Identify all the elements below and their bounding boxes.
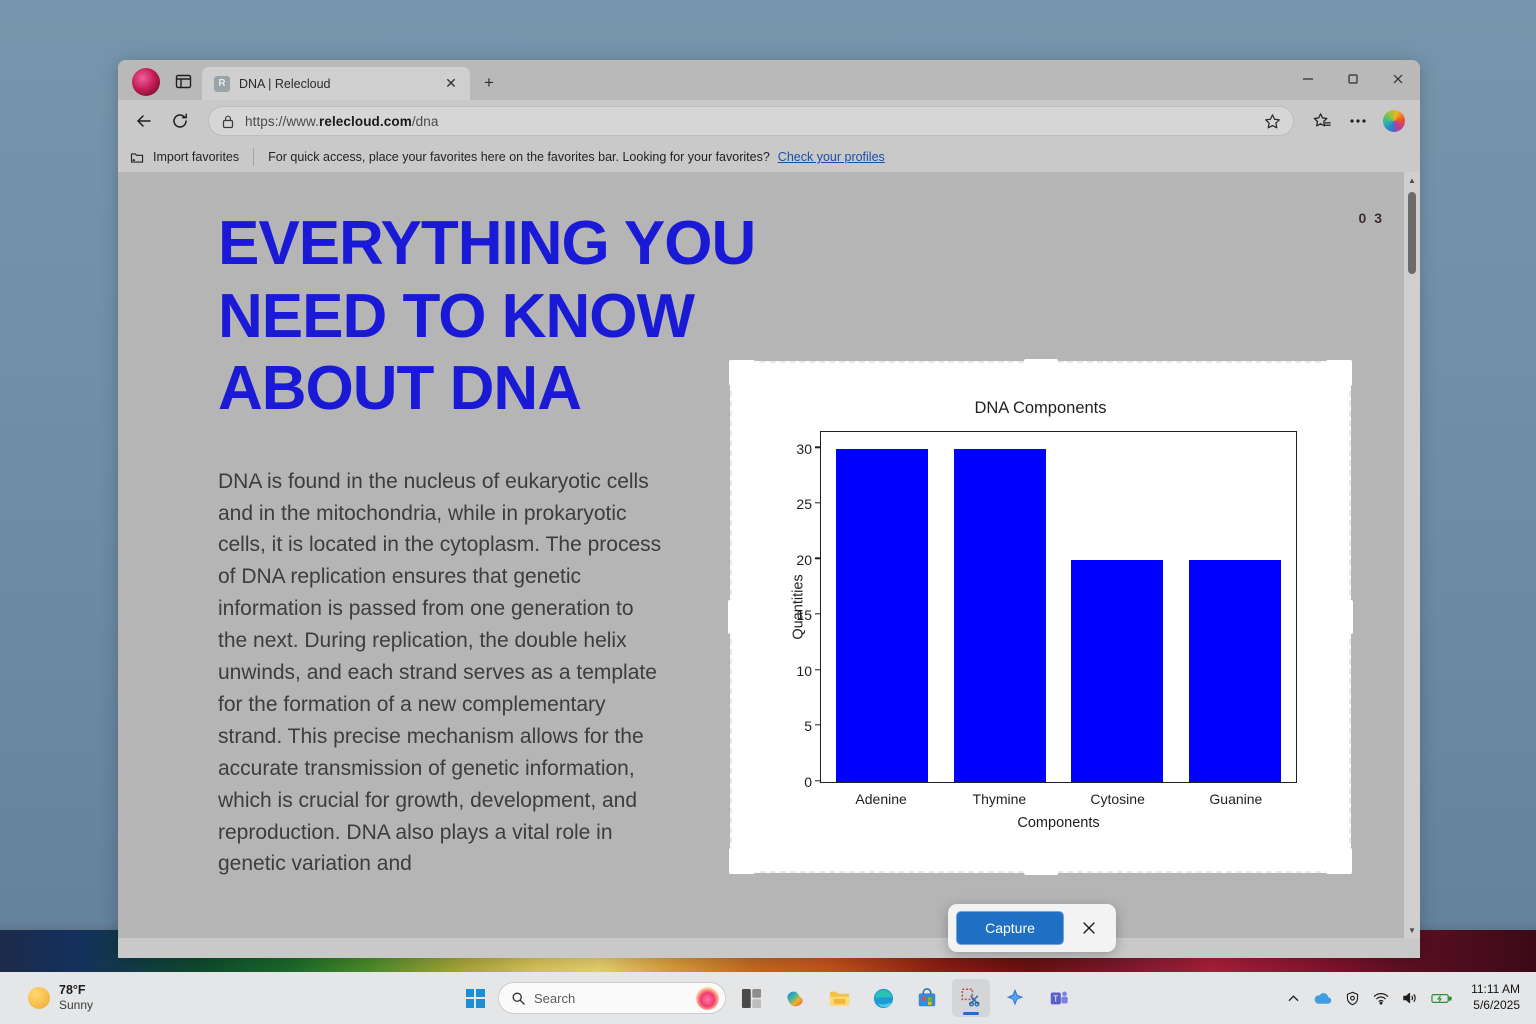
wifi-icon[interactable]: [1373, 991, 1389, 1005]
site-info-lock-icon[interactable]: [221, 114, 235, 129]
windows-logo-icon: [466, 989, 485, 1008]
chart-y-tick-label: 25: [796, 496, 812, 512]
settings-and-more-icon[interactable]: [1342, 105, 1374, 137]
show-hidden-icons-icon[interactable]: [1287, 992, 1300, 1005]
chart-x-tick-labels: AdenineThymineCytosineGuanine: [820, 791, 1297, 807]
weather-condition: Sunny: [59, 998, 93, 1013]
sun-icon: [28, 987, 50, 1009]
minimize-button[interactable]: [1285, 60, 1330, 98]
page-scrollbar[interactable]: ▲ ▼: [1404, 172, 1420, 938]
chart-bar: [836, 449, 928, 782]
onedrive-icon[interactable]: [1313, 991, 1332, 1005]
battery-charging-icon[interactable]: [1431, 992, 1452, 1005]
close-button[interactable]: [1375, 60, 1420, 98]
maximize-button[interactable]: [1330, 60, 1375, 98]
chart-y-tick-label: 15: [796, 607, 812, 623]
import-favorites-label[interactable]: Import favorites: [153, 150, 239, 164]
tab-actions-icon[interactable]: [168, 66, 198, 96]
taskbar-center-group: Search: [458, 979, 1078, 1017]
resize-handle-bottom[interactable]: [1024, 868, 1058, 875]
chart-x-tick-label: Adenine: [822, 791, 940, 807]
new-tab-button[interactable]: +: [478, 72, 500, 94]
browser-tab[interactable]: R DNA | Relecloud ✕: [202, 67, 470, 100]
taskbar-icon-file-explorer[interactable]: [820, 979, 858, 1017]
chart-y-tick-label: 5: [804, 718, 812, 734]
favorites-bar-message: For quick access, place your favorites h…: [268, 150, 770, 164]
address-bar-row: https://www.relecloud.com/dna: [118, 100, 1420, 142]
copilot-icon[interactable]: [1378, 105, 1410, 137]
address-bar-url: https://www.relecloud.com/dna: [245, 114, 439, 129]
tab-favicon-icon: R: [214, 76, 230, 92]
favorites-icon[interactable]: [1306, 105, 1338, 137]
svg-text:T: T: [1053, 995, 1058, 1004]
search-input[interactable]: Search: [534, 991, 575, 1006]
chart-y-tick-label: 0: [804, 774, 812, 790]
tab-close-icon[interactable]: ✕: [440, 73, 462, 95]
favorites-bar: Import favorites For quick access, place…: [118, 142, 1420, 172]
chart-x-tick-label: Cytosine: [1059, 791, 1177, 807]
page-title: EVERYTHING YOU NEED TO KNOW ABOUT DNA: [218, 208, 778, 426]
capture-button[interactable]: Capture: [956, 911, 1064, 945]
chart-y-tick-label: 10: [796, 663, 812, 679]
chart-y-tick-label: 20: [796, 552, 812, 568]
chart-bar-slot: [941, 432, 1059, 782]
resize-handle-top[interactable]: [1024, 359, 1058, 366]
snip-capture-toolbar: Capture: [948, 904, 1116, 952]
weather-temperature: 78°F: [59, 983, 93, 998]
security-icon[interactable]: [1345, 991, 1360, 1006]
chart-plot-area: 051015202530: [820, 431, 1297, 783]
taskbar-clock[interactable]: 11:11 AM 5/6/2025: [1471, 982, 1520, 1013]
snip-selection-region[interactable]: DNA Components Quantities 051015202530 A…: [730, 361, 1351, 873]
weather-widget[interactable]: 78°F Sunny: [0, 983, 220, 1013]
window-controls: [1285, 60, 1420, 98]
taskbar-search-box[interactable]: Search: [498, 982, 726, 1014]
chart-y-tick-label: 30: [796, 441, 812, 457]
taskbar-icon-snipping-tool[interactable]: [952, 979, 990, 1017]
chart-bar-slot: [1059, 432, 1177, 782]
taskbar-icon-copilot[interactable]: [776, 979, 814, 1017]
taskbar: 78°F Sunny Search: [0, 972, 1536, 1024]
clock-time: 11:11 AM: [1471, 982, 1520, 998]
tab-title: DNA | Relecloud: [239, 77, 431, 91]
chart-title: DNA Components: [752, 399, 1329, 418]
chart-x-tick-label: Thymine: [940, 791, 1058, 807]
taskbar-icon-edge[interactable]: [864, 979, 902, 1017]
back-button[interactable]: [128, 105, 160, 137]
taskbar-icon-teams[interactable]: T: [1040, 979, 1078, 1017]
clock-date: 5/6/2025: [1471, 998, 1520, 1014]
chart-plot-wrapper: Quantities 051015202530 AdenineThymineCy…: [820, 431, 1297, 783]
resize-handle-left[interactable]: [728, 600, 735, 634]
chart-bar-slot: [1176, 432, 1294, 782]
import-favorites-icon[interactable]: [130, 150, 145, 165]
search-icon: [511, 991, 526, 1006]
chart-figure: DNA Components Quantities 051015202530 A…: [752, 379, 1329, 855]
chart-bar: [1071, 560, 1163, 782]
volume-icon[interactable]: [1402, 991, 1418, 1005]
chart-bar: [1189, 560, 1281, 782]
taskbar-icon-widgets[interactable]: [732, 979, 770, 1017]
lotus-icon[interactable]: [696, 987, 719, 1010]
address-bar[interactable]: https://www.relecloud.com/dna: [208, 106, 1294, 136]
reload-button[interactable]: [164, 105, 196, 137]
scroll-down-arrow-icon[interactable]: ▼: [1404, 922, 1420, 938]
page-number: 0 3: [1359, 210, 1384, 226]
chart-bars: [821, 432, 1296, 782]
check-your-profiles-link[interactable]: Check your profiles: [778, 150, 885, 164]
profile-avatar[interactable]: [132, 68, 160, 96]
scrollbar-thumb[interactable]: [1408, 192, 1416, 274]
snip-close-icon[interactable]: [1070, 911, 1108, 945]
resize-handle-top-right[interactable]: [1326, 360, 1352, 386]
resize-handle-right[interactable]: [1346, 600, 1353, 634]
scroll-up-arrow-icon[interactable]: ▲: [1404, 172, 1420, 188]
page-body-text: DNA is found in the nucleus of eukaryoti…: [218, 466, 666, 881]
tab-strip: R DNA | Relecloud ✕ +: [118, 60, 1420, 100]
add-favorite-icon[interactable]: [1264, 113, 1281, 130]
system-tray: 11:11 AM 5/6/2025: [1287, 982, 1520, 1013]
taskbar-icon-store[interactable]: [908, 979, 946, 1017]
taskbar-icon-designer[interactable]: [996, 979, 1034, 1017]
chart-x-tick-label: Guanine: [1177, 791, 1295, 807]
resize-handle-bottom-right[interactable]: [1326, 848, 1352, 874]
start-button[interactable]: [458, 981, 492, 1015]
chart-x-axis-label: Components: [820, 815, 1297, 831]
favorites-bar-divider: [253, 148, 254, 166]
chart-bar: [954, 449, 1046, 782]
chart-bar-slot: [823, 432, 941, 782]
